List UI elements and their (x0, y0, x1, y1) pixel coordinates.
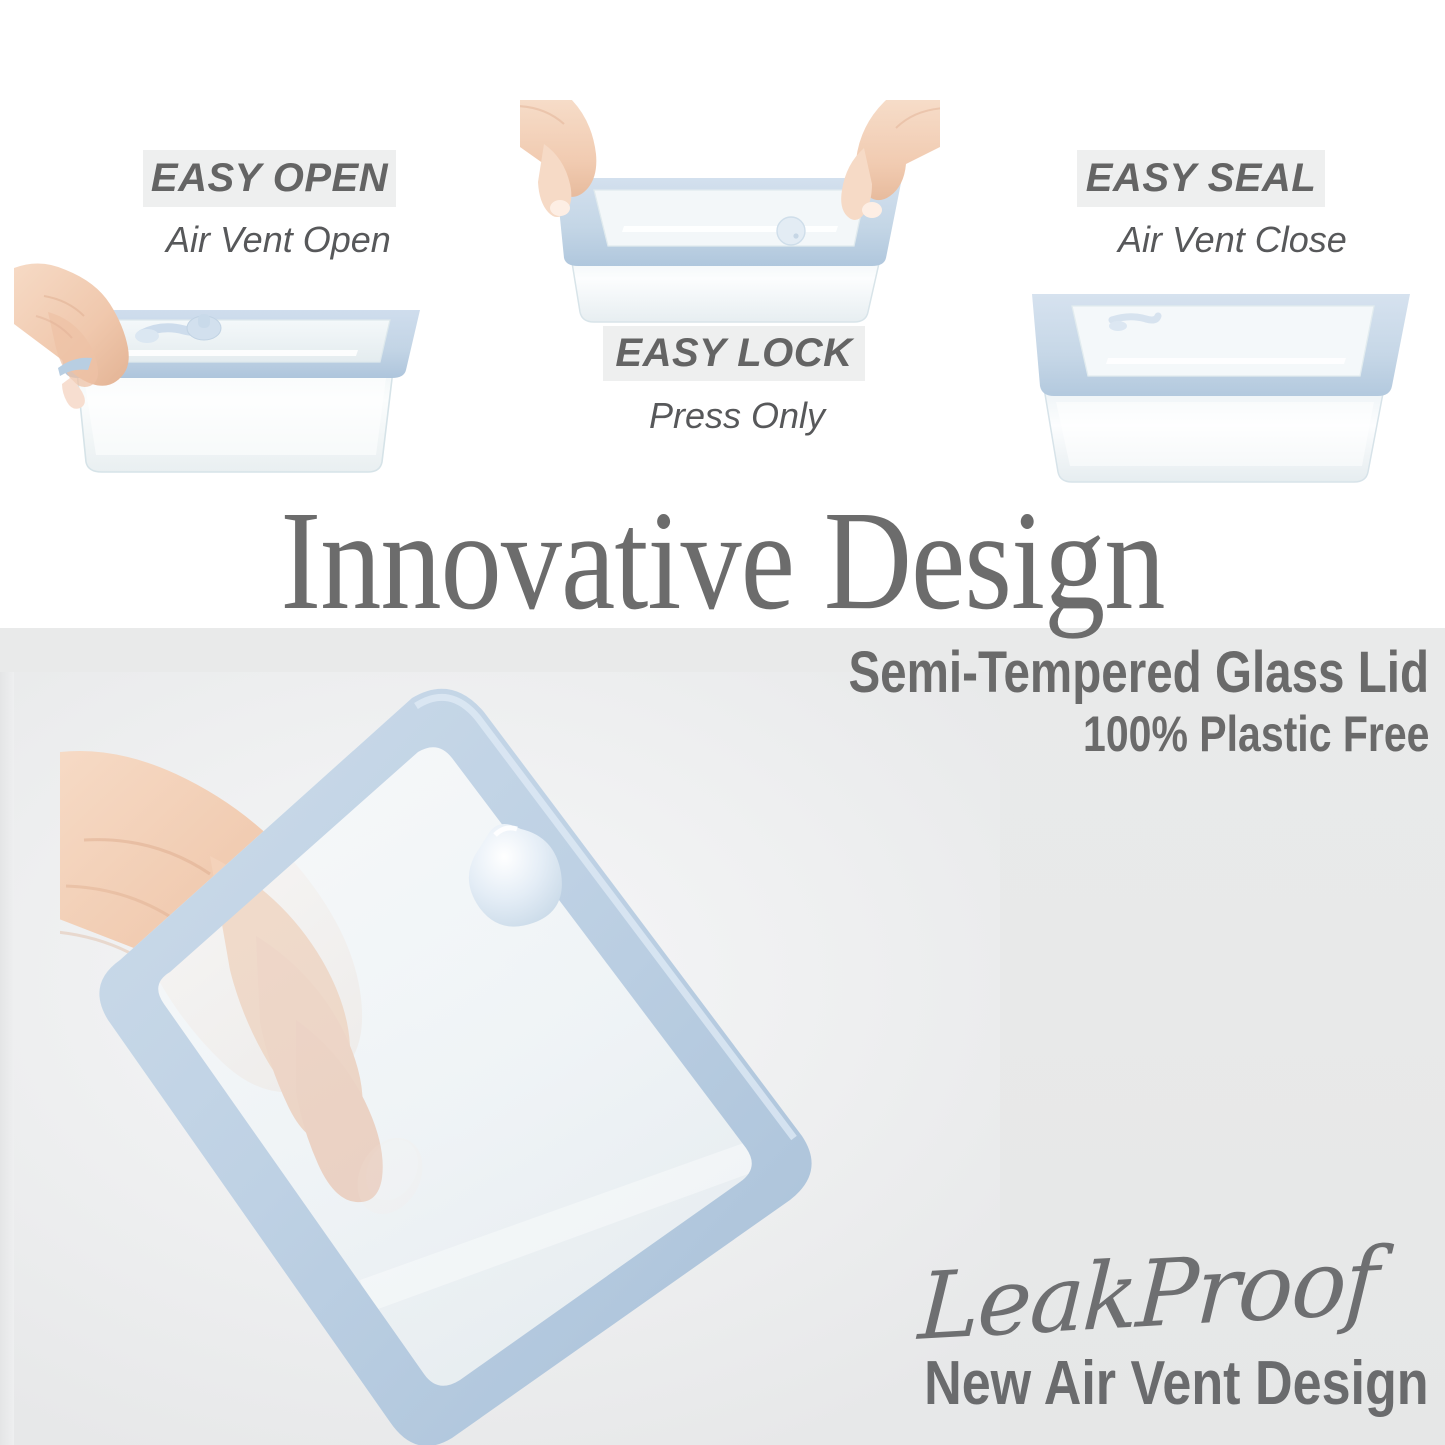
product-infographic: EASY OPEN Air Vent Open EASY LOCK Press … (0, 0, 1445, 1445)
hero-photo-lid-in-hand (60, 660, 960, 1445)
feature-caption-easy-seal: Air Vent Close (1118, 219, 1347, 261)
feature-tag-easy-lock: EASY LOCK (603, 326, 865, 381)
feature-caption-easy-open: Air Vent Open (166, 219, 391, 261)
subhead-glass-lid: Semi-Tempered Glass Lid (848, 639, 1429, 706)
page-headline: Innovative Design (101, 489, 1344, 631)
feature-title-easy-seal: EASY SEAL (1086, 156, 1317, 201)
product-photo-easy-open (14, 250, 454, 500)
new-air-vent-design-text: New Air Vent Design (924, 1348, 1429, 1419)
air-vent-button-hero (455, 805, 585, 935)
product-photo-easy-lock (520, 100, 940, 330)
feature-caption-easy-lock: Press Only (649, 395, 825, 437)
air-vent-button (777, 217, 805, 245)
feature-tag-easy-open: EASY OPEN (143, 150, 396, 207)
feature-tag-easy-seal: EASY SEAL (1077, 150, 1325, 207)
feature-title-easy-open: EASY OPEN (151, 156, 388, 201)
feature-title-easy-lock: EASY LOCK (615, 331, 852, 376)
subhead-plastic-free: 100% Plastic Free (1083, 705, 1429, 763)
product-photo-easy-seal (1016, 276, 1441, 496)
